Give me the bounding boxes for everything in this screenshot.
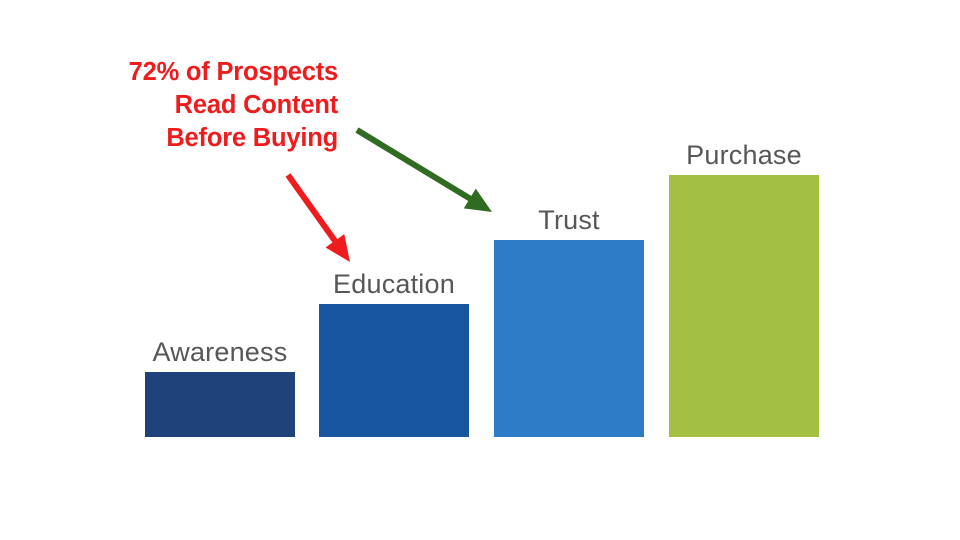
callout-line-1: 72% of Prospects [60, 56, 338, 89]
callout-line-2: Read Content [60, 89, 338, 122]
bar-purchase[interactable] [669, 175, 819, 437]
slide-canvas: Awareness Education Trust Purchase 72% o… [0, 0, 960, 540]
bar-group-education: Education [319, 304, 469, 437]
bar-education[interactable] [319, 304, 469, 437]
bar-group-purchase: Purchase [669, 175, 819, 437]
bar-label-awareness: Awareness [120, 337, 320, 368]
bar-group-trust: Trust [494, 240, 644, 437]
callout-line-3: Before Buying [60, 122, 338, 155]
bar-label-trust: Trust [469, 205, 669, 236]
bar-group-awareness: Awareness [145, 372, 295, 437]
bar-label-education: Education [294, 269, 494, 300]
bar-label-purchase: Purchase [644, 140, 844, 171]
callout-text: 72% of Prospects Read Content Before Buy… [60, 56, 338, 155]
bar-trust[interactable] [494, 240, 644, 437]
bar-awareness[interactable] [145, 372, 295, 437]
